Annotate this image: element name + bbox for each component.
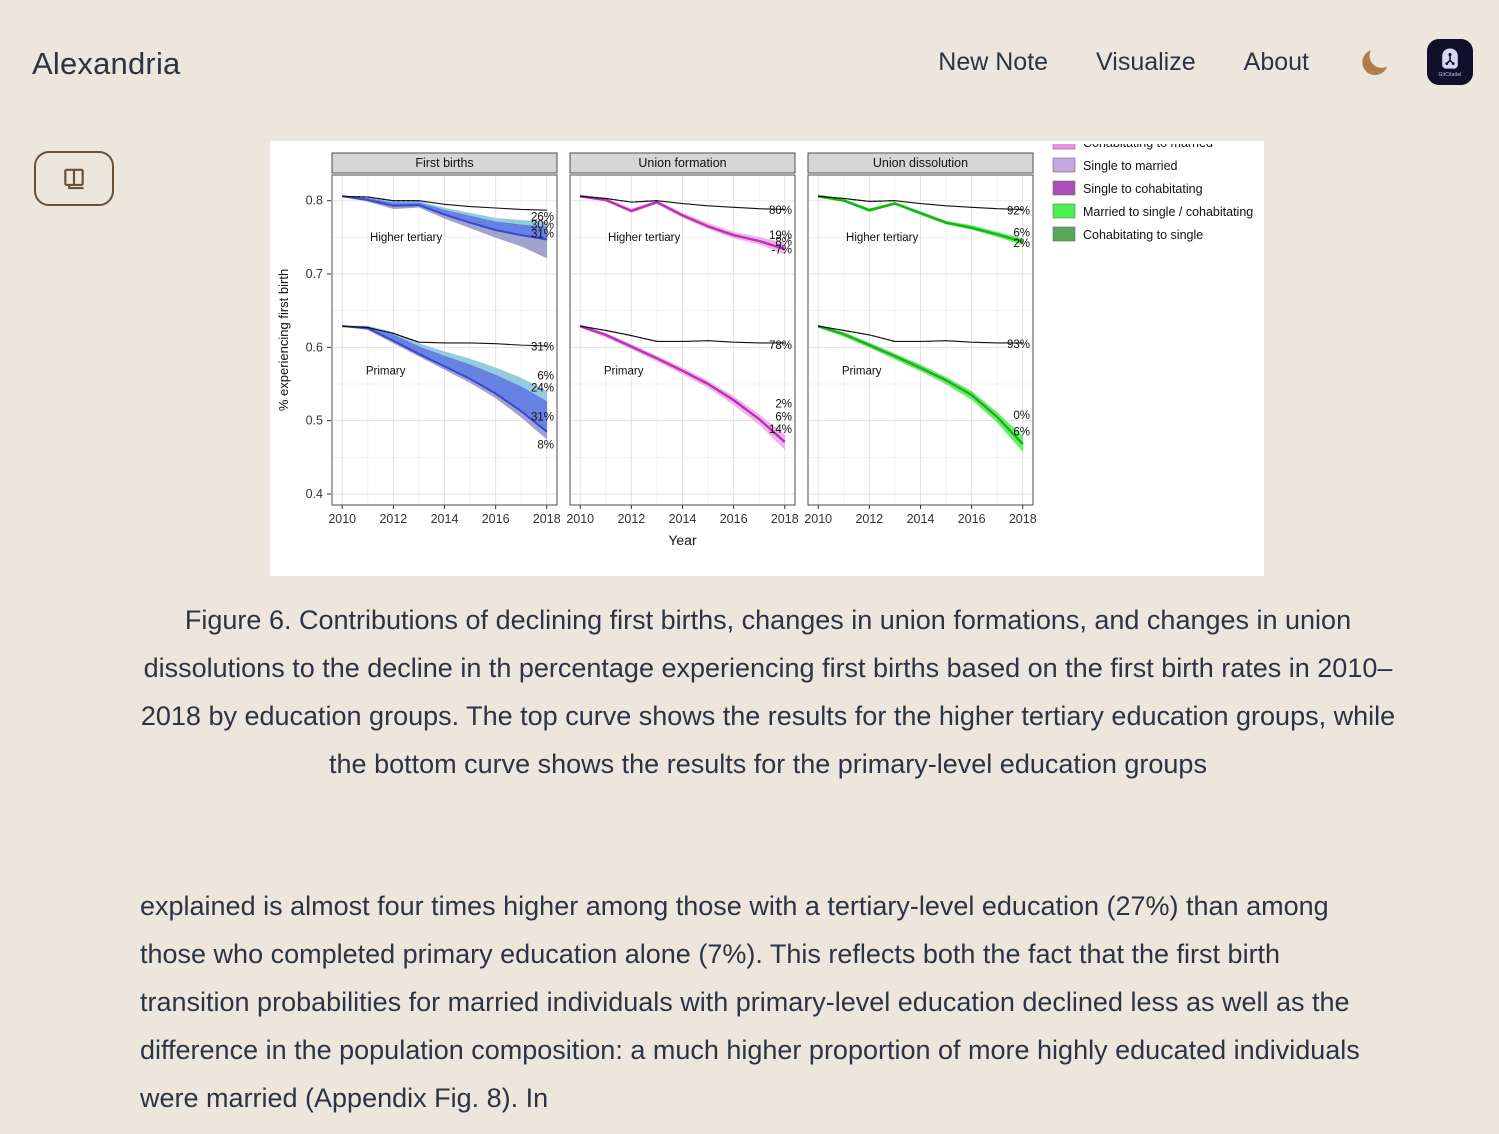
group-label: Primary <box>842 365 882 377</box>
book-icon <box>61 166 87 192</box>
gitcitadel-shield-icon <box>1439 47 1461 71</box>
legend-swatch <box>1053 158 1075 172</box>
endpoint-value-label: 24% <box>531 382 554 394</box>
legend-swatch <box>1053 181 1075 195</box>
moon-icon <box>1358 45 1392 79</box>
group-label: Primary <box>366 365 406 377</box>
y-tick-label: 0.7 <box>306 267 323 281</box>
y-axis-title: % experiencing first birth <box>276 269 291 411</box>
nav-new-note[interactable]: New Note <box>914 36 1072 88</box>
x-tick-label: 2018 <box>1009 512 1037 526</box>
x-tick-label: 2012 <box>617 512 645 526</box>
panel-union-dissolution: Union dissolutionHigher tertiary92%6%2%P… <box>804 153 1036 526</box>
x-tick-label: 2010 <box>804 512 832 526</box>
x-tick-label: 2012 <box>379 512 407 526</box>
panel-title: Union dissolution <box>873 156 968 170</box>
figure-caption: Figure 6. Contributions of declining fir… <box>140 596 1396 788</box>
endpoint-value-label: 78% <box>769 340 792 352</box>
endpoint-value-label: 31% <box>531 341 554 353</box>
endpoint-value-label: 6% <box>537 371 554 383</box>
gitcitadel-logo-button[interactable]: GitCitadel <box>1427 39 1473 85</box>
panel-union-formation: Union formationHigher tertiary80%19%8%-7… <box>566 153 798 526</box>
body-paragraph: explained is almost four times higher am… <box>140 882 1396 1122</box>
x-tick-label: 2012 <box>855 512 883 526</box>
endpoint-value-label: 80% <box>769 205 792 217</box>
x-tick-label: 2014 <box>431 512 459 526</box>
page-root: Alexandria New Note Visualize About GitC… <box>0 0 1499 1134</box>
legend-label: Single to married <box>1083 159 1178 173</box>
endpoint-value-label: 14% <box>769 424 792 436</box>
endpoint-value-label: 2% <box>775 398 792 410</box>
panel-title: Union formation <box>638 156 726 170</box>
gitcitadel-logo-label: GitCitadel <box>1439 72 1462 78</box>
endpoint-value-label: -7% <box>772 244 792 256</box>
panel-title: First births <box>415 156 473 170</box>
panel-first-births: First birthsHigher tertiary26%30%31%Prim… <box>328 153 560 526</box>
endpoint-value-label: 92% <box>1007 206 1030 218</box>
y-tick-label: 0.4 <box>306 487 323 501</box>
x-tick-label: 2018 <box>533 512 561 526</box>
group-label: Higher tertiary <box>608 232 680 244</box>
x-axis-title: Year <box>668 532 697 548</box>
reader-mode-button[interactable] <box>34 151 114 206</box>
chart-canvas: % experiencing first birth0.40.50.60.70.… <box>270 141 1264 576</box>
x-tick-label: 2010 <box>566 512 594 526</box>
endpoint-value-label: 31% <box>531 412 554 424</box>
x-tick-label: 2014 <box>907 512 935 526</box>
panel-strip: First births <box>332 153 557 173</box>
x-tick-label: 2016 <box>958 512 986 526</box>
endpoint-value-label: 8% <box>537 440 554 452</box>
x-tick-label: 2016 <box>482 512 510 526</box>
theme-toggle-button[interactable] <box>1349 36 1401 88</box>
group-label: Higher tertiary <box>846 232 918 244</box>
endpoint-value-label: 6% <box>775 412 792 424</box>
main-nav: New Note Visualize About GitCitadel <box>914 36 1473 88</box>
y-tick-label: 0.8 <box>306 194 323 208</box>
endpoint-value-label: 0% <box>1013 410 1030 422</box>
legend-swatch <box>1053 204 1075 218</box>
legend-label: Single to cohabitating <box>1083 182 1203 196</box>
endpoint-value-label: 93% <box>1007 339 1030 351</box>
x-tick-label: 2014 <box>669 512 697 526</box>
y-tick-label: 0.5 <box>306 414 323 428</box>
legend-label: Married to single / cohabitating <box>1083 205 1253 219</box>
y-tick-label: 0.6 <box>306 340 323 354</box>
x-tick-label: 2010 <box>328 512 356 526</box>
app-header: Alexandria New Note Visualize About GitC… <box>0 0 1499 128</box>
x-tick-label: 2016 <box>720 512 748 526</box>
nav-visualize[interactable]: Visualize <box>1072 36 1220 88</box>
endpoint-value-label: 31% <box>531 228 554 240</box>
legend-swatch <box>1053 227 1075 241</box>
endpoint-value-label: 2% <box>1013 238 1030 250</box>
legend-label: Cohabitating to single <box>1083 228 1203 242</box>
panel-strip: Union dissolution <box>808 153 1033 173</box>
group-label: Primary <box>604 365 644 377</box>
chart-legend: Cohabitating to marriedSingle to married… <box>1053 141 1253 242</box>
panel-strip: Union formation <box>570 153 795 173</box>
group-label: Higher tertiary <box>370 232 442 244</box>
x-tick-label: 2018 <box>771 512 799 526</box>
nav-about[interactable]: About <box>1220 36 1333 88</box>
figure-image: % experiencing first birth0.40.50.60.70.… <box>270 141 1264 576</box>
brand-title[interactable]: Alexandria <box>32 46 180 82</box>
endpoint-value-label: 6% <box>1013 426 1030 438</box>
